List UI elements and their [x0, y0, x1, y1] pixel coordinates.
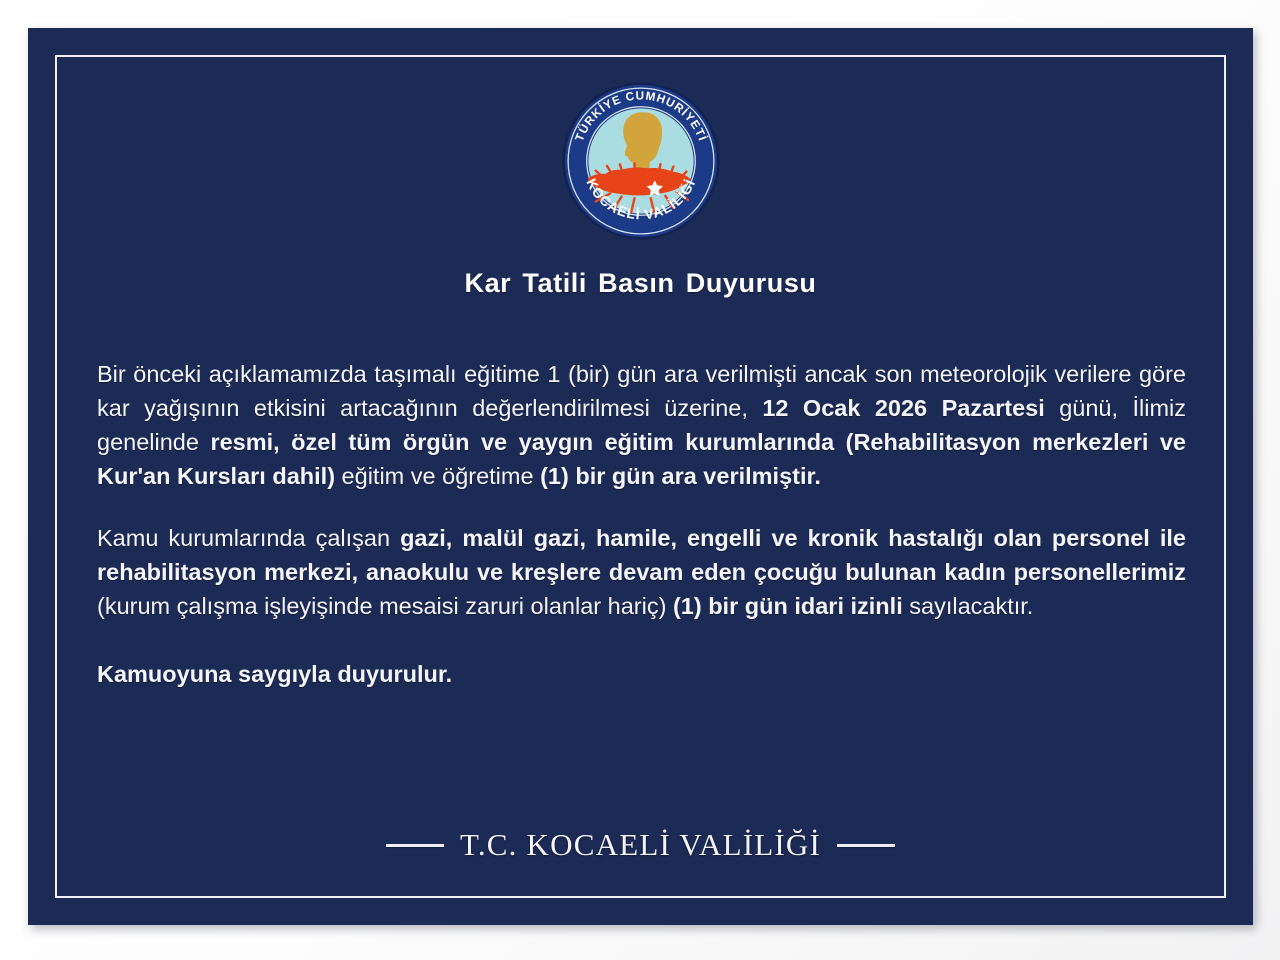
footer-authority-name: T.C. KOCAELİ VALİLİĞİ	[460, 827, 821, 863]
poster-content: TÜRKİYE CUMHURİYETİ KOCAELİ VALİLİĞİ Kar…	[28, 28, 1253, 925]
page-background: TÜRKİYE CUMHURİYETİ KOCAELİ VALİLİĞİ Kar…	[0, 0, 1280, 960]
p2-run-5: sayılacaktır.	[903, 593, 1034, 619]
paragraph-1: Bir önceki açıklamamızda taşımalı eğitim…	[97, 357, 1186, 493]
footer: T.C. KOCAELİ VALİLİĞİ	[91, 827, 1190, 863]
p2-run-1: Kamu kurumlarında çalışan	[97, 525, 400, 551]
footer-rule-right	[837, 844, 895, 847]
footer-rule-left	[386, 844, 444, 847]
p1-run-6-bold: (1) bir gün ara verilmiştir.	[540, 463, 821, 489]
p1-run-2-bold: 12 Ocak 2026 Pazartesi	[762, 395, 1044, 421]
closing-statement: Kamuoyuna saygıyla duyurulur.	[97, 657, 1186, 691]
p2-run-3: (kurum çalışma işleyişinde mesaisi zarur…	[97, 593, 673, 619]
page-title: Kar Tatili Basın Duyurusu	[91, 268, 1190, 299]
paragraph-2: Kamu kurumlarında çalışan gazi, malül ga…	[97, 521, 1186, 623]
announcement-poster: TÜRKİYE CUMHURİYETİ KOCAELİ VALİLİĞİ Kar…	[28, 28, 1253, 925]
emblem-container: TÜRKİYE CUMHURİYETİ KOCAELİ VALİLİĞİ	[91, 80, 1190, 250]
p1-run-5: eğitim ve öğretime	[335, 463, 540, 489]
announcement-body: Bir önceki açıklamamızda taşımalı eğitim…	[91, 357, 1190, 691]
kocaeli-governorship-seal-icon: TÜRKİYE CUMHURİYETİ KOCAELİ VALİLİĞİ	[560, 80, 722, 242]
p2-run-4-bold: (1) bir gün idari izinli	[673, 593, 903, 619]
